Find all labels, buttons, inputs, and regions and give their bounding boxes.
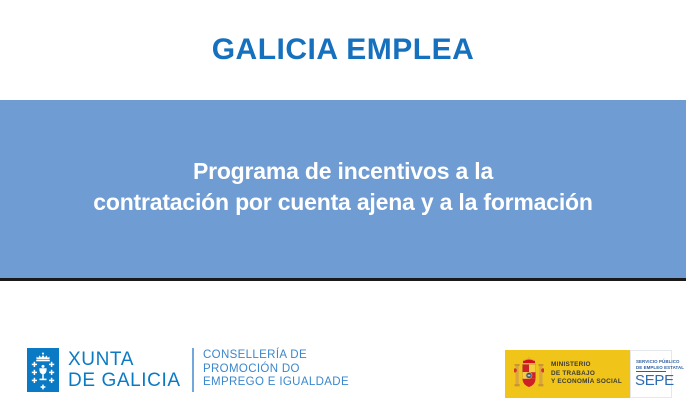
conselleria-block: CONSELLERÍA DE PROMOCIÓN DO EMPREGO E IG… [203,349,349,390]
program-banner: Programa de incentivos a la contratación… [0,100,686,281]
sepe-acronym: SEPE [635,373,671,389]
spain-coat-of-arms-icon [514,355,544,393]
logo-divider [192,348,194,392]
conselleria-line-1: CONSELLERÍA DE [203,349,349,363]
sepe-subtitle-line-2: DE EMPLEO ESTATAL [636,365,671,371]
sepe-logo: SERVICIO PÚBLICO DE EMPLEO ESTATAL SEPE [630,350,672,398]
ministerio-line-3: Y ECONOMÍA SOCIAL [551,378,622,386]
xunta-coat-of-arms-icon [27,348,59,392]
program-banner-text: Programa de incentivos a la contratación… [0,156,686,226]
xunta-logotype-line-2: DE GALICIA [68,370,181,391]
sepe-subtitle-line-1: SERVICIO PÚBLICO [636,359,671,365]
ministerio-wordmark: MINISTERIO DE TRABAJO Y ECONOMÍA SOCIAL [551,361,622,386]
xunta-de-galicia-logo: XUNTA DE GALICIA [27,348,181,392]
banner-bottom-rule [0,278,686,281]
xunta-logotype: XUNTA DE GALICIA [68,349,181,391]
footer-logos: XUNTA DE GALICIA CONSELLERÍA DE PROMOCIÓ… [0,284,686,410]
xunta-logotype-line-1: XUNTA [68,349,181,370]
conselleria-line-2: PROMOCIÓN DO [203,363,349,377]
ministerio-line-1: MINISTERIO [551,361,622,369]
sepe-subtitle: SERVICIO PÚBLICO DE EMPLEO ESTATAL [636,359,671,370]
ministerio-line-2: DE TRABAJO [551,370,622,378]
program-banner-line-1: Programa de incentivos a la [0,156,686,187]
program-banner-line-2: contratación por cuenta ajena y a la for… [0,187,686,218]
ministerio-logo: MINISTERIO DE TRABAJO Y ECONOMÍA SOCIAL [505,350,630,398]
header-banner: GALICIA EMPLEA [0,0,686,100]
page-title: GALICIA EMPLEA [212,35,475,65]
conselleria-line-3: EMPREGO E IGUALDADE [203,376,349,390]
